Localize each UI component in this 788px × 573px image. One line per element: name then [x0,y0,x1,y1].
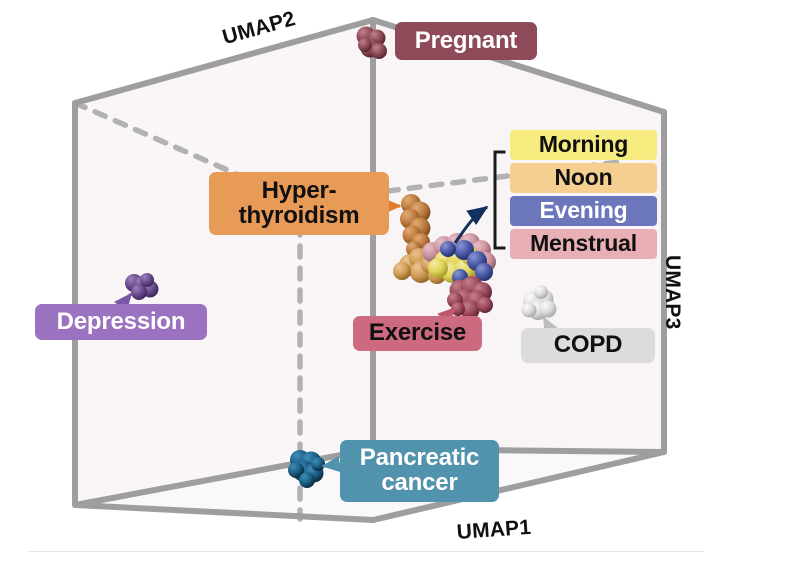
bottom-divider [28,551,704,552]
legend-item-menstrual[interactable]: Menstrual [510,229,657,259]
callout-pregnant[interactable]: Pregnant [395,22,537,60]
legend-item-evening[interactable]: Evening [510,196,657,226]
callout-depression[interactable]: Depression [35,304,207,340]
arrow-pancreatic-cancer [323,464,341,466]
umap-3d-figure: UMAP2 UMAP1 UMAP3 Pregnant Hyper- thyroi… [0,0,788,573]
callout-exercise[interactable]: Exercise [353,316,482,351]
callout-hyperthyroidism[interactable]: Hyper- thyroidism [209,172,389,235]
legend-item-noon[interactable]: Noon [510,163,657,193]
callout-pancreatic-cancer[interactable]: Pancreatic cancer [340,440,499,502]
callout-copd[interactable]: COPD [521,328,655,363]
axis-title-umap3: UMAP3 [660,255,684,330]
legend-item-morning[interactable]: Morning [510,130,657,160]
